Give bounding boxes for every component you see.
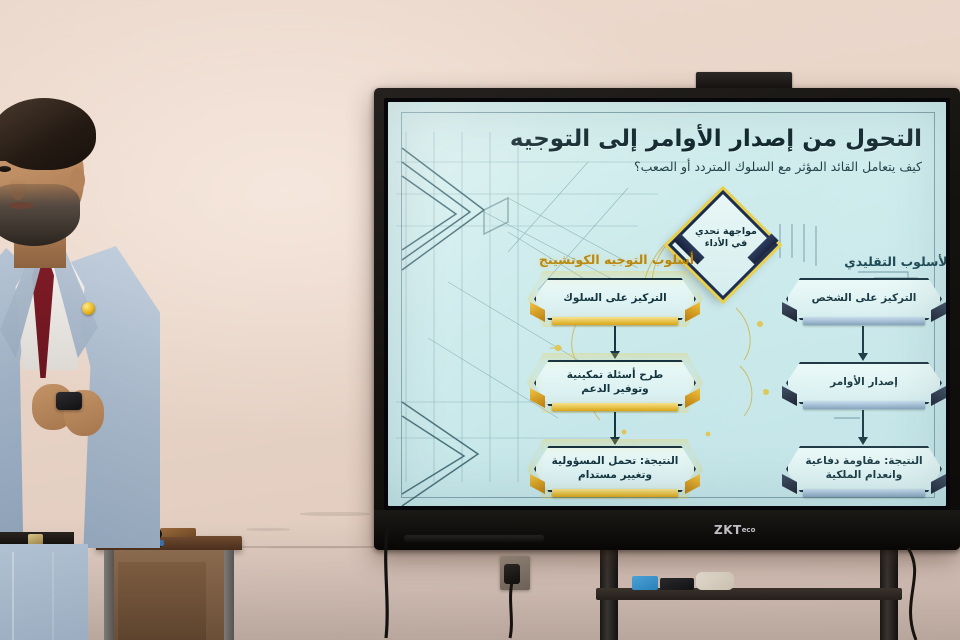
traditional-step-1-label: التركيز على الشخص xyxy=(786,278,942,320)
coaching-step-2-label: طرح أسئلة تمكينية وتوفير الدعم xyxy=(534,360,696,406)
traditional-step-1[interactable]: التركيز على الشخص xyxy=(786,278,942,320)
interactive-flat-panel-display[interactable]: التحول من إصدار الأوامر إلى التوجيه كيف … xyxy=(374,88,960,550)
column-heading-traditional: الأسلوب التقليدي xyxy=(844,254,946,269)
coaching-step-3[interactable]: النتيجة: تحمل المسؤولية وتغيير مستدام xyxy=(534,446,696,492)
hair xyxy=(0,98,96,170)
coaching-arrow-2 xyxy=(614,412,616,438)
shelf-item-dark-box xyxy=(660,578,694,590)
trouser-crease xyxy=(52,552,54,640)
stand-cable xyxy=(830,548,950,640)
wall-scuff xyxy=(300,512,370,516)
coaching-step-1[interactable]: التركيز على السلوك xyxy=(534,278,696,320)
traditional-step-2[interactable]: إصدار الأوامر xyxy=(786,362,942,404)
presenter xyxy=(0,96,206,640)
lectern-leg-right xyxy=(224,550,234,640)
presentation-clicker[interactable] xyxy=(56,392,82,410)
chip-label-line1: مواجهة تحدي xyxy=(666,226,786,238)
room-photo-scene: التحول من إصدار الأوامر إلى التوجيه كيف … xyxy=(0,0,960,640)
traditional-arrow-1 xyxy=(862,326,864,354)
traditional-arrow-2 xyxy=(862,410,864,438)
shelf-item-light-pouch xyxy=(696,572,734,590)
chip-label-line2: في الأداء xyxy=(666,238,786,250)
coaching-step-1-label: التركيز على السلوك xyxy=(534,278,696,320)
slide-subtitle: كيف يتعامل القائد المؤثر مع السلوك المتر… xyxy=(502,159,922,175)
slide-screen[interactable]: التحول من إصدار الأوامر إلى التوجيه كيف … xyxy=(388,102,946,506)
coaching-arrow-1 xyxy=(614,326,616,352)
coaching-step-3-label: النتيجة: تحمل المسؤولية وتغيير مستدام xyxy=(534,446,696,492)
display-camera-bar xyxy=(696,72,792,88)
slide-title: التحول من إصدار الأوامر إلى التوجيه xyxy=(502,126,922,152)
traditional-step-2-label: إصدار الأوامر xyxy=(786,362,942,404)
trouser-crease xyxy=(12,552,14,640)
nose xyxy=(10,178,26,200)
socket-cable xyxy=(498,580,558,640)
display-brand-logo: ZKTeco xyxy=(714,523,755,537)
brand-suffix: eco xyxy=(742,526,756,534)
traditional-step-3-label: النتيجة: مقاومة دفاعية وانعدام الملكية xyxy=(786,446,942,492)
column-heading-coaching: أسلوب التوجيه الكوتشينج xyxy=(539,252,694,267)
coaching-step-2[interactable]: طرح أسئلة تمكينية وتوفير الدعم xyxy=(534,360,696,406)
mouth xyxy=(8,202,34,209)
chip-label: مواجهة تحدي في الأداء xyxy=(666,226,786,250)
traditional-step-3[interactable]: النتيجة: مقاومة دفاعية وانعدام الملكية xyxy=(786,446,942,492)
lapel-pin xyxy=(82,302,95,315)
brand-text: ZKT xyxy=(714,523,742,537)
